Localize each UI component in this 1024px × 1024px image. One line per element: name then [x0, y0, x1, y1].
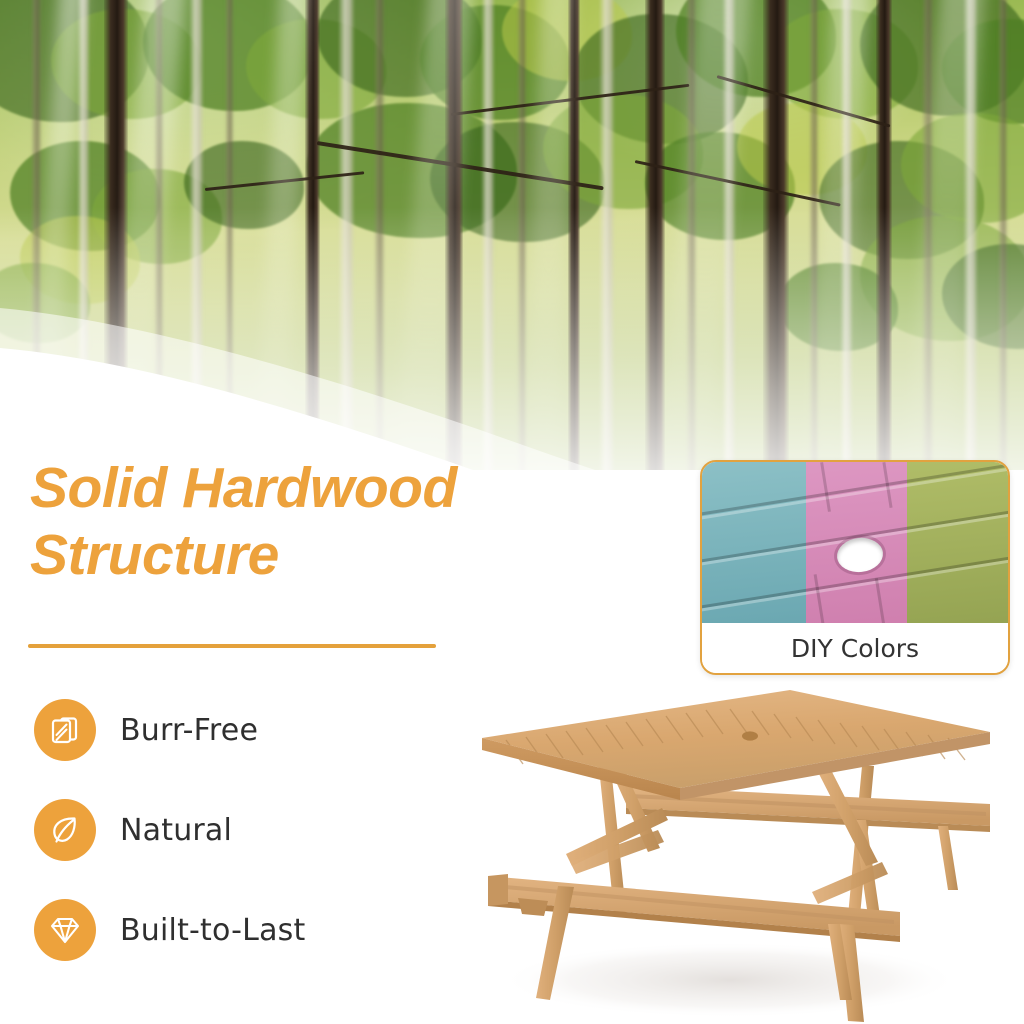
- marketing-banner: Solid Hardwood Structure Burr-Free: [0, 0, 1024, 1024]
- feature-item-burr-free: Burr-Free: [34, 694, 434, 766]
- feature-label: Natural: [120, 813, 232, 848]
- headline-line-2: Structure: [30, 522, 670, 589]
- feature-item-natural: Natural: [34, 794, 434, 866]
- headline-line-1: Solid Hardwood: [30, 456, 457, 520]
- title-divider-rule: [28, 644, 436, 648]
- diy-colors-caption: DIY Colors: [702, 623, 1008, 673]
- leaf-icon: [34, 799, 96, 861]
- diy-colors-card: DIY Colors: [700, 460, 1010, 675]
- umbrella-hole-tabletop: [742, 731, 758, 740]
- sunlight-beams: [0, 0, 1024, 470]
- diamond-icon: [34, 899, 96, 961]
- diy-colors-swatch-image: [702, 462, 1008, 627]
- tabletop: [482, 690, 990, 788]
- product-image-picnic-table: [430, 680, 1024, 1024]
- swatch-olive-green: [907, 462, 1008, 627]
- feature-list: Burr-Free Natural: [34, 694, 434, 966]
- product-shadow: [500, 942, 960, 1018]
- page-title: Solid Hardwood Structure: [30, 455, 670, 588]
- feature-label: Built-to-Last: [120, 913, 305, 948]
- sanded-plank-icon: [34, 699, 96, 761]
- feature-item-built-to-last: Built-to-Last: [34, 894, 434, 966]
- forest-background-photo: [0, 0, 1024, 470]
- feature-label: Burr-Free: [120, 713, 258, 748]
